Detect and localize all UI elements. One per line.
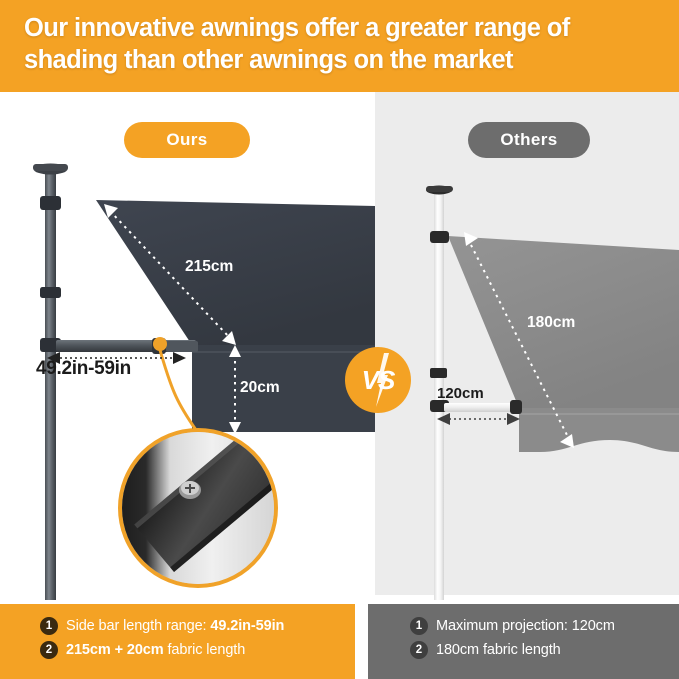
- label-20cm: 20cm: [240, 379, 280, 397]
- label-120cm: 120cm: [437, 385, 484, 402]
- screw-detail-closeup: [118, 428, 278, 588]
- vs-badge: VS: [345, 347, 411, 413]
- footer-ours-item-2: 2 215cm + 20cm fabric length: [40, 641, 245, 659]
- footer-ours-text-1: Side bar length range: 49.2in-59in: [66, 618, 284, 634]
- lightning-bolt-icon: [375, 353, 389, 407]
- footer-others-text-1: Maximum projection: 120cm: [436, 618, 615, 634]
- badge-ours: Ours: [124, 122, 250, 158]
- list-number-badge: 2: [410, 641, 428, 659]
- footer-ours-item-1: 1 Side bar length range: 49.2in-59in: [40, 617, 284, 635]
- footer-others-item-1: 1 Maximum projection: 120cm: [410, 617, 615, 635]
- footer-others-item-2: 2 180cm fabric length: [410, 641, 561, 659]
- text-suffix: fabric length: [164, 642, 246, 658]
- list-number-badge: 2: [40, 641, 58, 659]
- label-180cm: 180cm: [527, 314, 575, 332]
- list-number-badge: 1: [40, 617, 58, 635]
- footer-others-text-2: 180cm fabric length: [436, 642, 561, 658]
- list-number-badge: 1: [410, 617, 428, 635]
- label-215cm: 215cm: [185, 258, 233, 276]
- panel-others: [375, 92, 679, 595]
- header-banner: Our innovative awnings offer a greater r…: [0, 0, 679, 92]
- badge-others: Others: [468, 122, 590, 158]
- label-sidebar-range: 49.2in-59in: [36, 358, 131, 380]
- text-bold: 215cm + 20cm: [66, 642, 164, 658]
- text-prefix: Side bar length range:: [66, 618, 210, 634]
- footer-ours-text-2: 215cm + 20cm fabric length: [66, 642, 245, 658]
- text-bold: 49.2in-59in: [210, 618, 284, 634]
- page-title: Our innovative awnings offer a greater r…: [24, 12, 663, 76]
- infographic-page: Our innovative awnings offer a greater r…: [0, 0, 679, 679]
- screw-detail-image: [118, 428, 278, 588]
